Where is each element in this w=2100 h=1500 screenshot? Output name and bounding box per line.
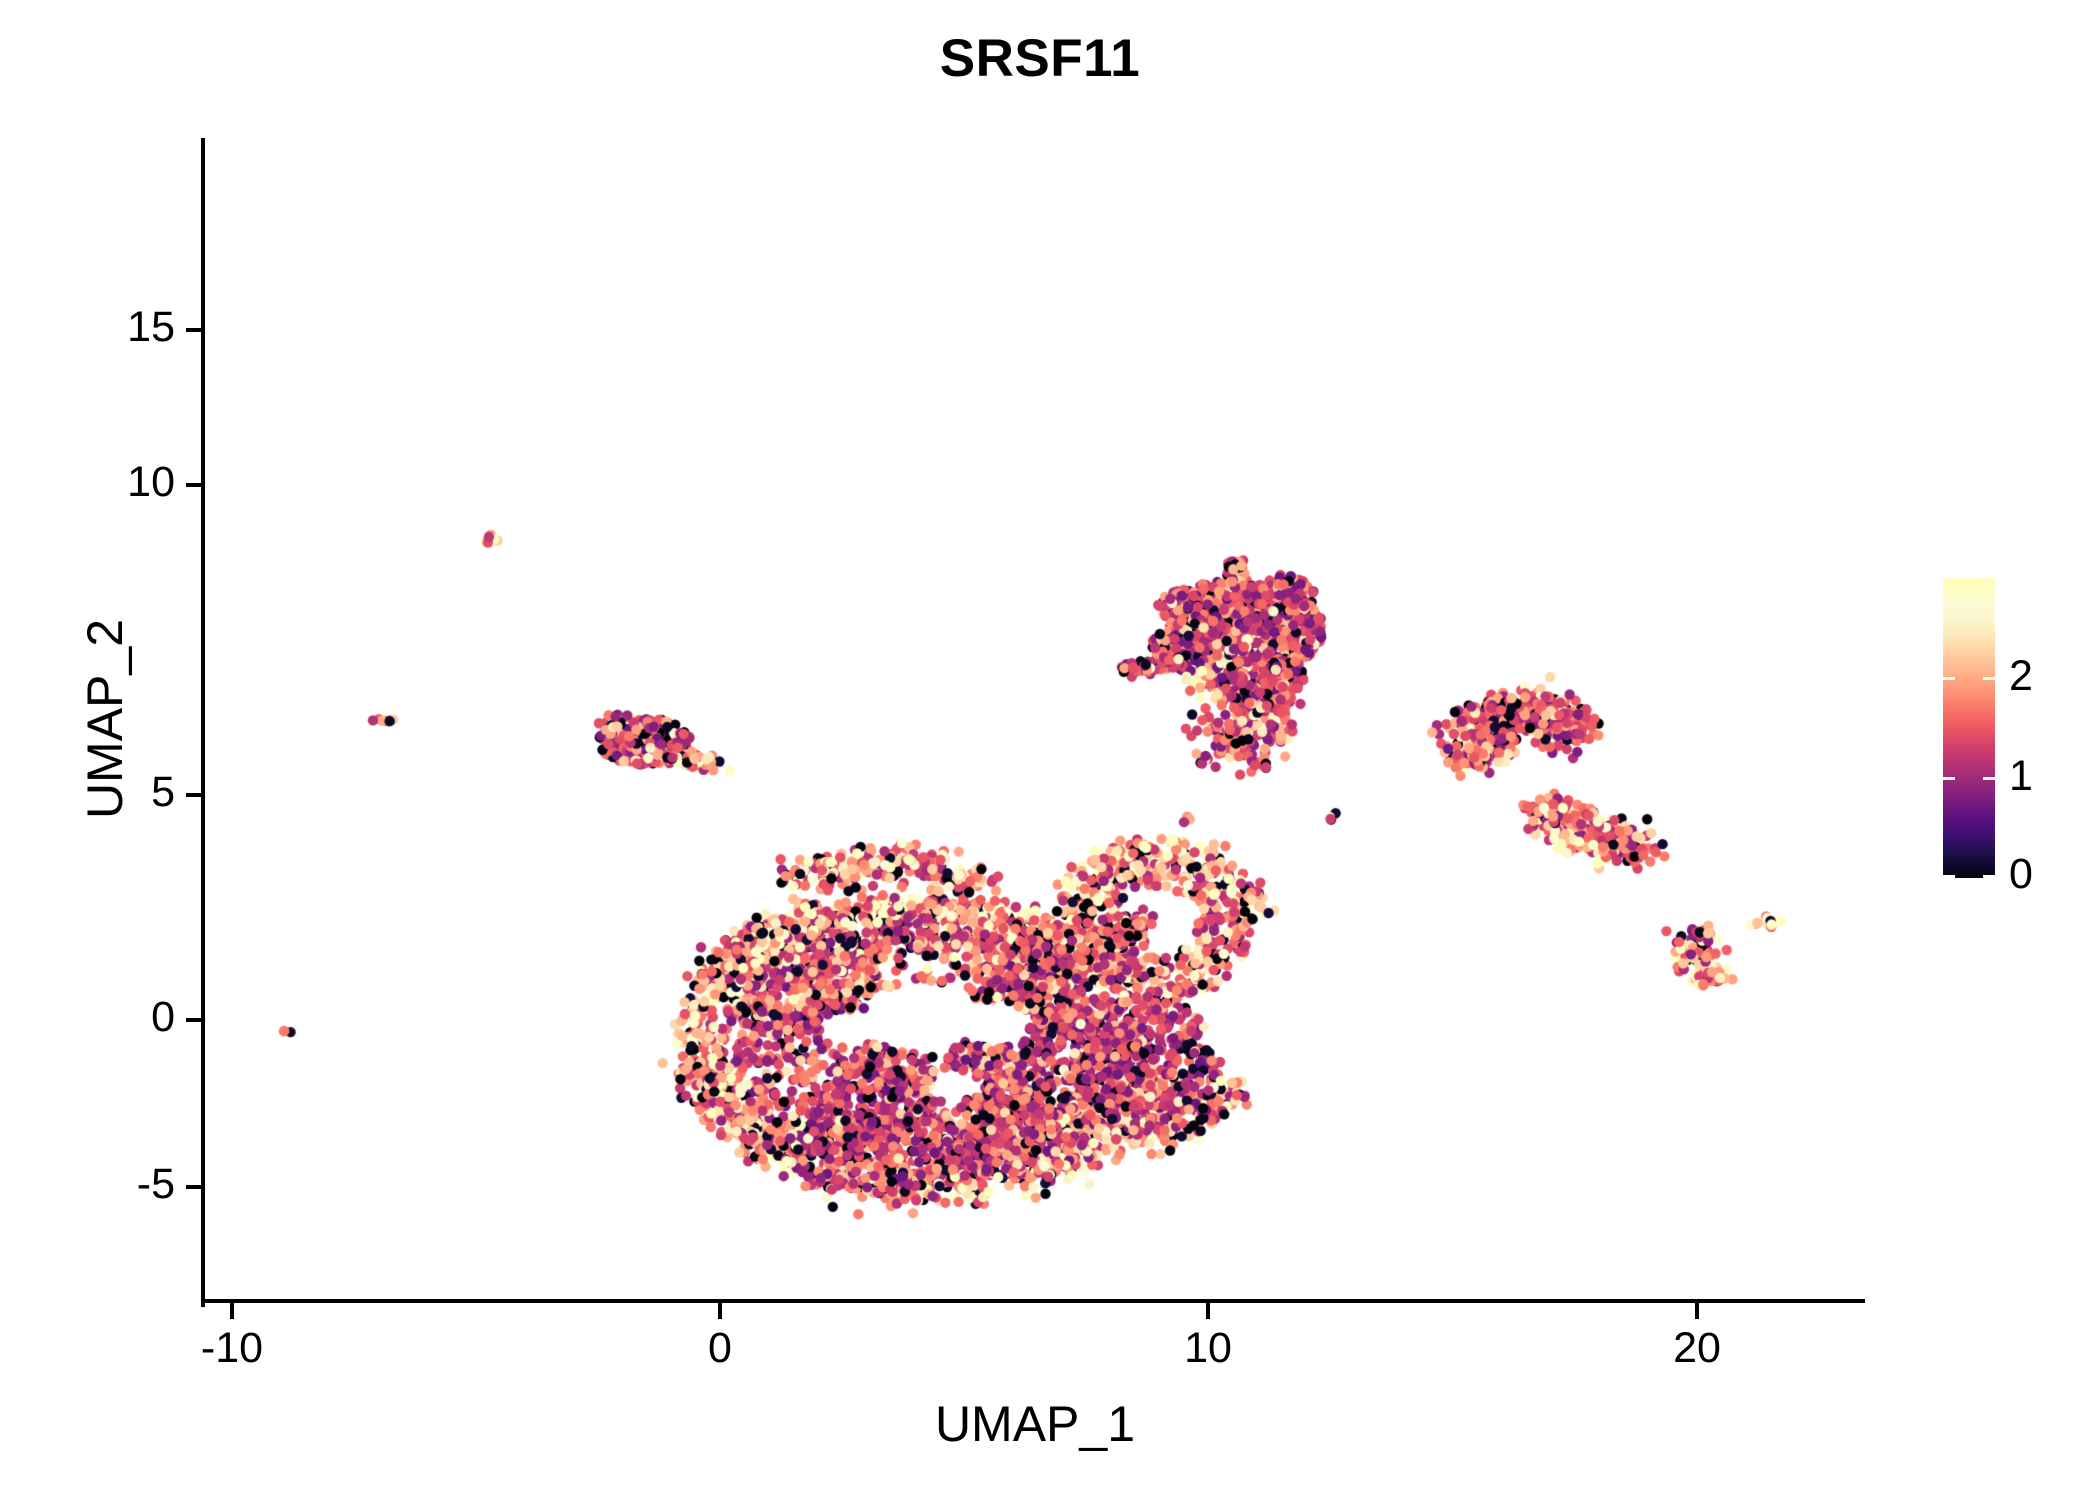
x-ticklabel-20: 20 [1597,1327,1797,1370]
colorbar-label-1: 1 [2009,755,2079,798]
colorbar-gradient [1943,578,1995,878]
x-tick-0 [718,1303,722,1319]
x-tick-10 [1206,1303,1210,1319]
colorbar-label-0: 0 [2009,853,2079,896]
x-tick--10 [230,1303,234,1319]
y-tick-10 [186,483,202,487]
y-tick-0 [186,1018,202,1022]
x-axis-line [201,1299,1865,1303]
scatter-panel[interactable] [205,138,1865,1303]
x-ticklabel-0: 0 [620,1327,820,1370]
colorbar-tick-1-left [1943,777,1955,780]
figure-root: SRSF11 15 10 5 0 -5 -10 0 10 20 UMAP_1 U… [0,0,2100,1500]
colorbar-label-2: 2 [2009,655,2079,698]
x-axis-label: UMAP_1 [205,1395,1865,1453]
colorbar-legend[interactable]: 2 1 0 [1943,578,2093,898]
colorbar-tick-2-left [1943,677,1955,680]
x-ticklabel--10: -10 [132,1327,332,1370]
y-axis-label: UMAP_2 [76,319,134,1119]
x-tick-20 [1695,1303,1699,1319]
y-ticklabel--5: -5 [55,1163,175,1206]
x-ticklabel-10: 10 [1108,1327,1308,1370]
y-tick-5 [186,793,202,797]
scatter-plot-canvas[interactable] [205,138,1865,1303]
page-title: SRSF11 [0,28,2080,89]
colorbar-tick-2-right [1983,677,1995,680]
colorbar-tick-0-right [1983,875,1995,878]
y-tick-15 [186,328,202,332]
colorbar-tick-0-left [1943,875,1955,878]
colorbar-tick-1-right [1983,777,1995,780]
y-tick--5 [186,1185,202,1189]
y-axis-line [201,138,205,1307]
